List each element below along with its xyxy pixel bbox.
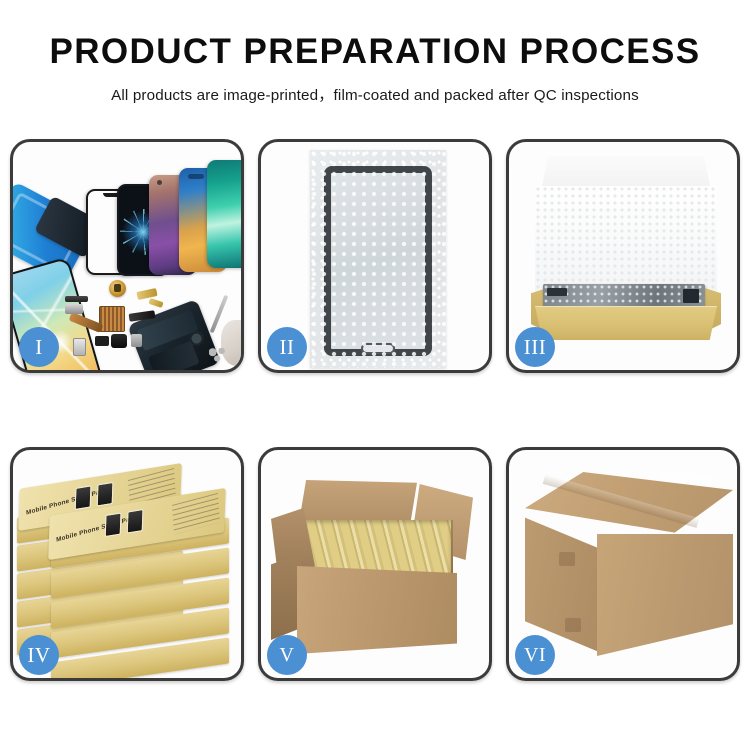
- process-step-panel-1[interactable]: I: [10, 139, 244, 373]
- carton-flap-tab: [565, 618, 581, 632]
- carton-right-face: [597, 534, 733, 656]
- connector-part: [65, 304, 83, 314]
- carton-flap-tab: [559, 552, 575, 566]
- page-title: PRODUCT PREPARATION PROCESS: [0, 34, 750, 69]
- phone-screen-assembly: [324, 166, 432, 356]
- page-subtitle: All products are image-printed，film-coat…: [0, 83, 750, 105]
- gold-flex-cable-part: [136, 288, 157, 300]
- step-badge-5: V: [267, 635, 307, 675]
- sim-tray-part: [73, 338, 86, 356]
- box-artwork-phone: [127, 509, 144, 534]
- teal-gradient-phone: [207, 160, 241, 268]
- box-front-wall: [535, 306, 717, 340]
- box-artwork-phone: [75, 485, 92, 510]
- process-step-panel-6[interactable]: VI: [506, 447, 740, 681]
- page-header: PRODUCT PREPARATION PROCESS All products…: [0, 0, 750, 105]
- step-badge-3: III: [515, 327, 555, 367]
- carton-left-wall: [271, 554, 301, 640]
- carton-left-face: [525, 512, 599, 652]
- box-artwork-phone: [97, 482, 114, 507]
- step-badge-2: II: [267, 327, 307, 367]
- sealed-carton: [525, 472, 733, 660]
- process-step-panel-3[interactable]: III: [506, 139, 740, 373]
- antenna-bar-part: [65, 296, 88, 302]
- process-step-grid: I II III: [10, 139, 740, 681]
- gold-flex-cable-small-part: [148, 298, 163, 308]
- box-artwork-phone: [105, 512, 122, 537]
- chip-grid-part: [99, 306, 125, 332]
- process-step-panel-5[interactable]: V: [258, 447, 492, 681]
- open-carton: [271, 480, 485, 660]
- box-spec-list: [172, 493, 220, 535]
- step-badge-1: I: [19, 327, 59, 367]
- speaker-part: [111, 334, 127, 348]
- bubble-wrap-sheet: [310, 150, 446, 368]
- vibrator-part: [131, 334, 142, 347]
- screws-part: [209, 348, 227, 362]
- button-part: [95, 336, 109, 346]
- inner-box: [531, 156, 721, 352]
- foam-lining: [535, 186, 717, 292]
- process-step-panel-4[interactable]: Mobile Phone Spare Parts Mobile Phone Sp…: [10, 447, 244, 681]
- step-badge-6: VI: [515, 635, 555, 675]
- copper-coil-part: [109, 280, 126, 297]
- packed-retail-boxes: [303, 520, 451, 574]
- carton-front-wall: [297, 566, 457, 654]
- process-step-panel-2[interactable]: II: [258, 139, 492, 373]
- step-badge-4: IV: [19, 635, 59, 675]
